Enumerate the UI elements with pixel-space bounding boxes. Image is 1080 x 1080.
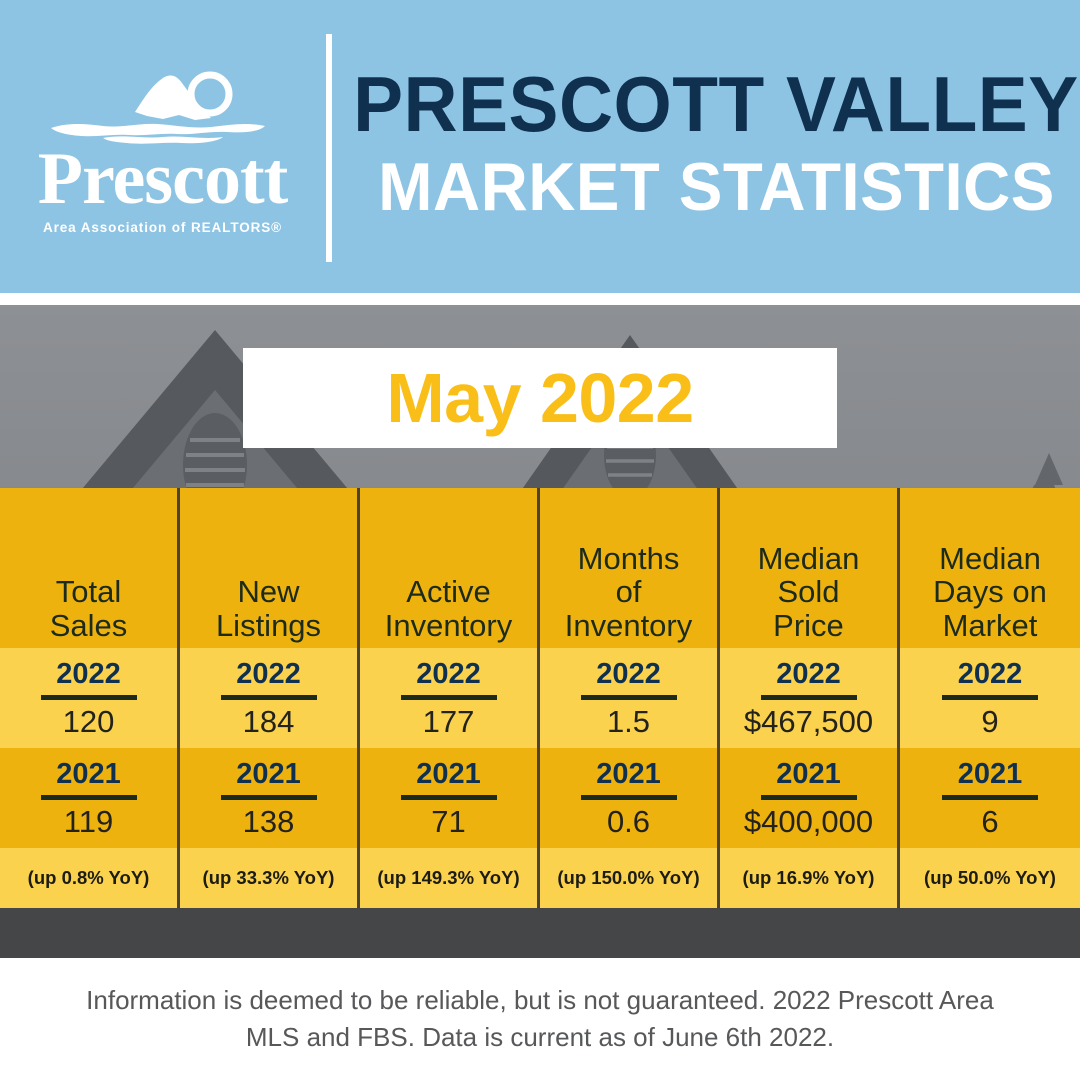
value-2022: 177 [423, 706, 475, 737]
column-header-label: New Listings [216, 575, 321, 642]
header-divider [326, 34, 332, 262]
cell-yoy: (up 0.8% YoY) [0, 848, 177, 908]
year-label-2021: 2021 [776, 760, 841, 789]
yoy-badge: (up 0.8% YoY) [28, 869, 150, 888]
year-rule [41, 795, 137, 800]
cell-yoy: (up 50.0% YoY) [900, 848, 1080, 908]
logo-tagline: Area Association of REALTORS® [43, 220, 282, 235]
yoy-badge: (up 16.9% YoY) [743, 869, 875, 888]
cell-yoy: (up 16.9% YoY) [720, 848, 897, 908]
value-2021: 138 [243, 806, 295, 837]
column-header: Median Sold Price [720, 488, 897, 648]
disclaimer-text: Information is deemed to be reliable, bu… [60, 982, 1020, 1056]
footer: Information is deemed to be reliable, bu… [0, 958, 1080, 1080]
cell-yoy: (up 149.3% YoY) [360, 848, 537, 908]
year-rule [221, 795, 317, 800]
year-rule [581, 695, 677, 700]
year-label-2022: 2022 [236, 660, 301, 689]
cell-2022: 2022 $467,500 [720, 648, 897, 748]
yoy-badge: (up 150.0% YoY) [557, 869, 699, 888]
year-rule [41, 695, 137, 700]
value-2022: 9 [981, 706, 998, 737]
year-rule [221, 695, 317, 700]
yoy-badge: (up 50.0% YoY) [924, 869, 1056, 888]
year-rule [401, 795, 497, 800]
column-header-label: Median Days on Market [933, 542, 1047, 642]
infographic-canvas: Prescott Area Association of REALTORS® P… [0, 0, 1080, 1080]
year-label-2021: 2021 [236, 760, 301, 789]
value-2022: 1.5 [607, 706, 650, 737]
cell-2021: 2021 119 [0, 748, 177, 848]
year-label-2022: 2022 [596, 660, 661, 689]
month-label: May 2022 [386, 363, 693, 433]
cell-2022: 2022 177 [360, 648, 537, 748]
value-2021: $400,000 [744, 806, 873, 837]
brand-logo: Prescott Area Association of REALTORS® [0, 0, 325, 293]
year-label-2022: 2022 [56, 660, 121, 689]
cell-2021: 2021 71 [360, 748, 537, 848]
year-label-2021: 2021 [596, 760, 661, 789]
stat-column-total-sales: Total Sales 2022 120 2021 119 (up 0.8% Y… [0, 488, 180, 908]
cell-2021: 2021 138 [180, 748, 357, 848]
value-2022: $467,500 [744, 706, 873, 737]
value-2022: 120 [63, 706, 115, 737]
column-header: Months of Inventory [540, 488, 717, 648]
column-header: Active Inventory [360, 488, 537, 648]
year-rule [401, 695, 497, 700]
header-title-block: PRESCOTT VALLEY MARKET STATISTICS [352, 0, 1080, 293]
yoy-badge: (up 149.3% YoY) [377, 869, 519, 888]
stat-column-median-days-on-market: Median Days on Market 2022 9 2021 6 (up … [900, 488, 1080, 908]
page-title: PRESCOTT VALLEY [353, 65, 1079, 143]
column-header: Median Days on Market [900, 488, 1080, 648]
value-2021: 6 [981, 806, 998, 837]
cell-yoy: (up 33.3% YoY) [180, 848, 357, 908]
value-2021: 119 [64, 806, 113, 837]
dark-strip [0, 908, 1080, 958]
cell-2021: 2021 $400,000 [720, 748, 897, 848]
cell-2022: 2022 120 [0, 648, 177, 748]
header-band: Prescott Area Association of REALTORS® P… [0, 0, 1080, 293]
value-2021: 71 [431, 806, 465, 837]
year-label-2021: 2021 [56, 760, 121, 789]
stat-column-active-inventory: Active Inventory 2022 177 2021 71 (up 14… [360, 488, 540, 908]
year-label-2022: 2022 [416, 660, 481, 689]
column-header: Total Sales [0, 488, 177, 648]
yoy-badge: (up 33.3% YoY) [203, 869, 335, 888]
value-2022: 184 [243, 706, 295, 737]
month-banner: May 2022 [243, 348, 837, 448]
year-label-2022: 2022 [958, 660, 1023, 689]
cell-2021: 2021 0.6 [540, 748, 717, 848]
cell-2022: 2022 184 [180, 648, 357, 748]
year-rule [761, 795, 857, 800]
year-rule [942, 695, 1038, 700]
year-rule [581, 795, 677, 800]
year-label-2021: 2021 [416, 760, 481, 789]
year-rule [761, 695, 857, 700]
stat-column-new-listings: New Listings 2022 184 2021 138 (up 33.3%… [180, 488, 360, 908]
year-label-2021: 2021 [958, 760, 1023, 789]
page-subtitle: MARKET STATISTICS [378, 153, 1055, 221]
cell-2021: 2021 6 [900, 748, 1080, 848]
stat-column-median-sold-price: Median Sold Price 2022 $467,500 2021 $40… [720, 488, 900, 908]
column-header-label: Months of Inventory [565, 542, 693, 642]
cell-2022: 2022 1.5 [540, 648, 717, 748]
year-rule [942, 795, 1038, 800]
value-2021: 0.6 [607, 806, 650, 837]
cell-yoy: (up 150.0% YoY) [540, 848, 717, 908]
column-header-label: Median Sold Price [758, 542, 860, 642]
column-header: New Listings [180, 488, 357, 648]
logo-wordmark: Prescott [38, 144, 287, 214]
stats-table: Total Sales 2022 120 2021 119 (up 0.8% Y… [0, 488, 1080, 908]
column-header-label: Active Inventory [385, 575, 513, 642]
cell-2022: 2022 9 [900, 648, 1080, 748]
column-header-label: Total Sales [50, 575, 128, 642]
year-label-2022: 2022 [776, 660, 841, 689]
stat-column-months-of-inventory: Months of Inventory 2022 1.5 2021 0.6 (u… [540, 488, 720, 908]
